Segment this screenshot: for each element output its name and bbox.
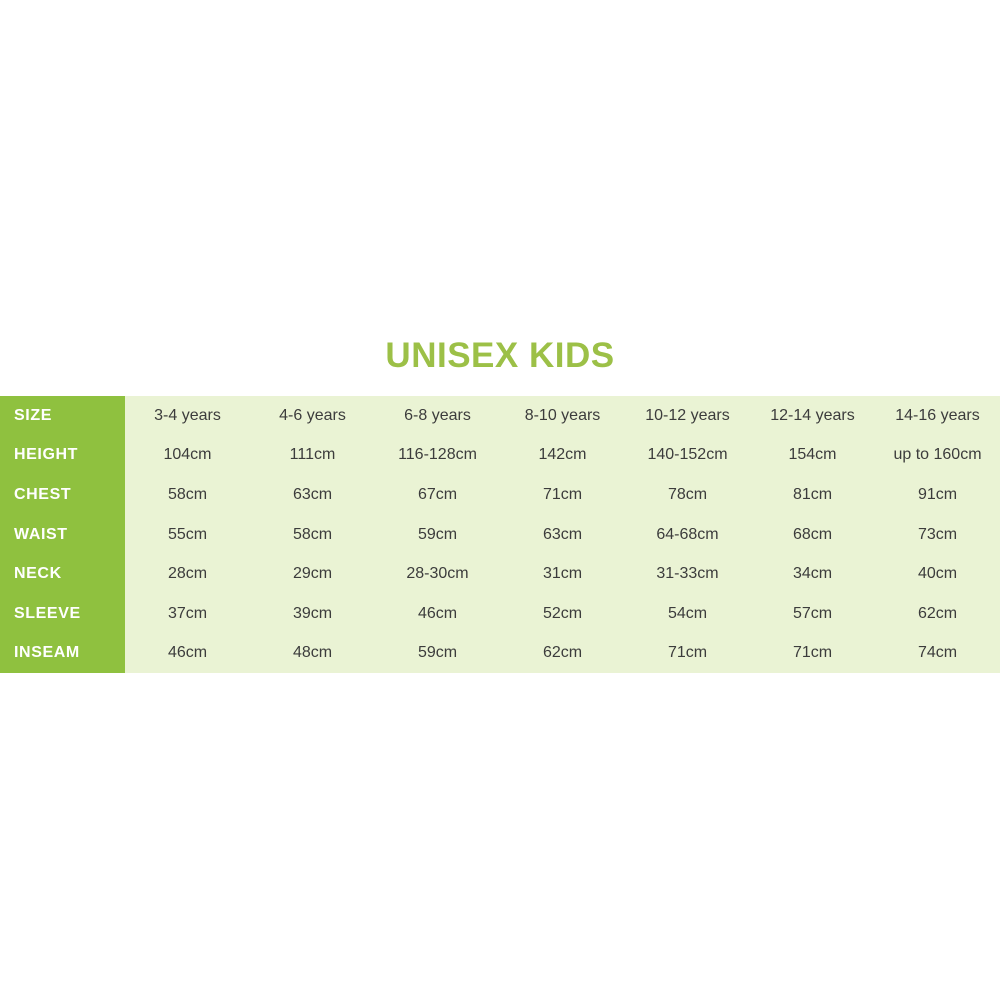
table-cell: 81cm [750,475,875,515]
page-title: UNISEX KIDS [0,334,1000,378]
table-cell: 39cm [250,594,375,634]
table-cell: 91cm [875,475,1000,515]
table-cell: 140-152cm [625,436,750,476]
table-cell: 14-16 years [875,396,1000,436]
table-cell: 37cm [125,594,250,634]
table-cell: 58cm [250,515,375,555]
table-cell: 34cm [750,554,875,594]
table-row: INSEAM 46cm 48cm 59cm 62cm 71cm 71cm 74c… [0,634,1000,674]
table-cell: 78cm [625,475,750,515]
table-cell: 54cm [625,594,750,634]
table-row: SIZE 3-4 years 4-6 years 6-8 years 8-10 … [0,396,1000,436]
row-label-neck: NECK [0,554,125,594]
table-cell: 62cm [875,594,1000,634]
table-cell: 63cm [250,475,375,515]
table-cell: 12-14 years [750,396,875,436]
table-cell: 28-30cm [375,554,500,594]
table-cell: 29cm [250,554,375,594]
table-cell: 68cm [750,515,875,555]
table-cell: 31-33cm [625,554,750,594]
table-row: NECK 28cm 29cm 28-30cm 31cm 31-33cm 34cm… [0,554,1000,594]
table-cell: 71cm [625,634,750,674]
table-cell: 3-4 years [125,396,250,436]
table-cell: 55cm [125,515,250,555]
table-cell: 4-6 years [250,396,375,436]
table-row: WAIST 55cm 58cm 59cm 63cm 64-68cm 68cm 7… [0,515,1000,555]
table-cell: 74cm [875,634,1000,674]
table-row: HEIGHT 104cm 111cm 116-128cm 142cm 140-1… [0,436,1000,476]
table-cell: 28cm [125,554,250,594]
table-cell: 10-12 years [625,396,750,436]
row-label-size: SIZE [0,396,125,436]
table-cell: 62cm [500,634,625,674]
row-label-chest: CHEST [0,475,125,515]
table-cell: 111cm [250,436,375,476]
size-chart-table-body: SIZE 3-4 years 4-6 years 6-8 years 8-10 … [0,396,1000,673]
table-cell: 116-128cm [375,436,500,476]
table-cell: 71cm [750,634,875,674]
table-cell: 59cm [375,634,500,674]
table-cell: 63cm [500,515,625,555]
table-cell: 57cm [750,594,875,634]
table-cell: 59cm [375,515,500,555]
table-cell: 104cm [125,436,250,476]
table-cell: 8-10 years [500,396,625,436]
table-cell: 71cm [500,475,625,515]
table-cell: 6-8 years [375,396,500,436]
table-cell: 46cm [125,634,250,674]
table-cell: 40cm [875,554,1000,594]
table-cell: 154cm [750,436,875,476]
table-row: CHEST 58cm 63cm 67cm 71cm 78cm 81cm 91cm [0,475,1000,515]
table-cell: 48cm [250,634,375,674]
table-cell: 31cm [500,554,625,594]
table-cell: 58cm [125,475,250,515]
size-chart-page: UNISEX KIDS SIZE 3-4 years 4-6 years 6-8… [0,0,1000,1000]
table-cell: 46cm [375,594,500,634]
table-cell: 73cm [875,515,1000,555]
row-label-height: HEIGHT [0,436,125,476]
table-cell: 52cm [500,594,625,634]
table-cell: 64-68cm [625,515,750,555]
size-chart-table: SIZE 3-4 years 4-6 years 6-8 years 8-10 … [0,396,1000,673]
table-cell: up to 160cm [875,436,1000,476]
table-cell: 142cm [500,436,625,476]
row-label-sleeve: SLEEVE [0,594,125,634]
row-label-inseam: INSEAM [0,634,125,674]
table-cell: 67cm [375,475,500,515]
row-label-waist: WAIST [0,515,125,555]
table-row: SLEEVE 37cm 39cm 46cm 52cm 54cm 57cm 62c… [0,594,1000,634]
